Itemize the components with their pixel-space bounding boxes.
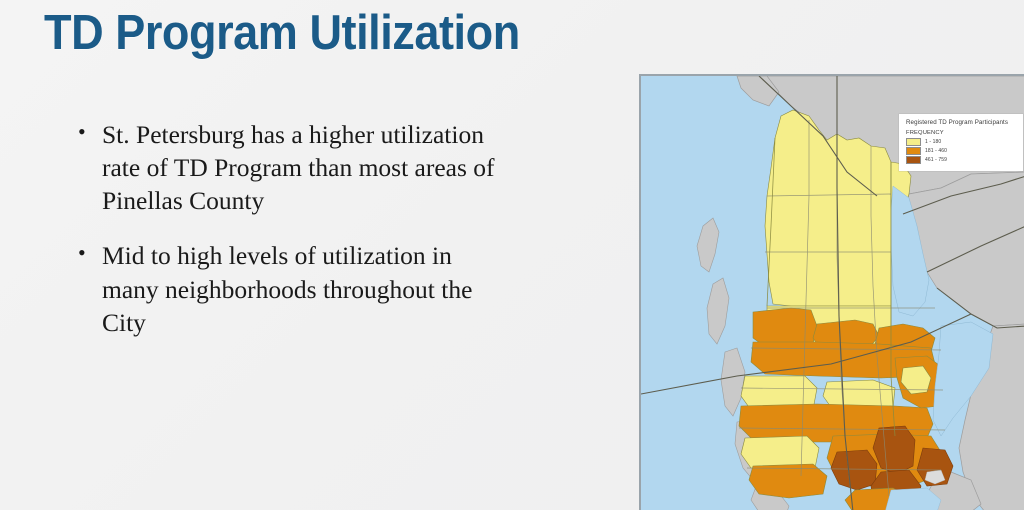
legend-row: 1 - 180 (906, 138, 1017, 146)
legend-swatch-low (906, 138, 921, 146)
legend-row: 181 - 460 (906, 147, 1017, 155)
legend-label-mid: 181 - 460 (925, 148, 947, 154)
legend-subtitle: FREQUENCY (906, 130, 1017, 136)
choropleth-map: Registered TD Program Participants FREQU… (639, 74, 1024, 510)
legend-swatch-high (906, 156, 921, 164)
tract-orange-lowerwest (749, 464, 827, 498)
map-legend: Registered TD Program Participants FREQU… (899, 114, 1023, 171)
legend-swatch-mid (906, 147, 921, 155)
list-item: • Mid to high levels of utilization in m… (74, 239, 504, 338)
legend-title: Registered TD Program Participants (906, 119, 1017, 127)
legend-label-low: 1 - 180 (925, 139, 941, 145)
bullet-marker-icon: • (78, 118, 86, 147)
slide: TD Program Utilization • St. Petersburg … (0, 0, 1024, 510)
bullet-text: Mid to high levels of utilization in man… (102, 239, 504, 338)
legend-row: 461 - 759 (906, 156, 1017, 164)
legend-label-high: 461 - 759 (925, 157, 947, 163)
bullet-text: St. Petersburg has a higher utilization … (102, 118, 504, 217)
bullet-marker-icon: • (78, 239, 86, 268)
legend-rows: 1 - 180 181 - 460 461 - 759 (906, 138, 1017, 164)
list-item: • St. Petersburg has a higher utilizatio… (74, 118, 504, 217)
page-title: TD Program Utilization (44, 8, 520, 59)
bullet-list: • St. Petersburg has a higher utilizatio… (74, 118, 504, 361)
